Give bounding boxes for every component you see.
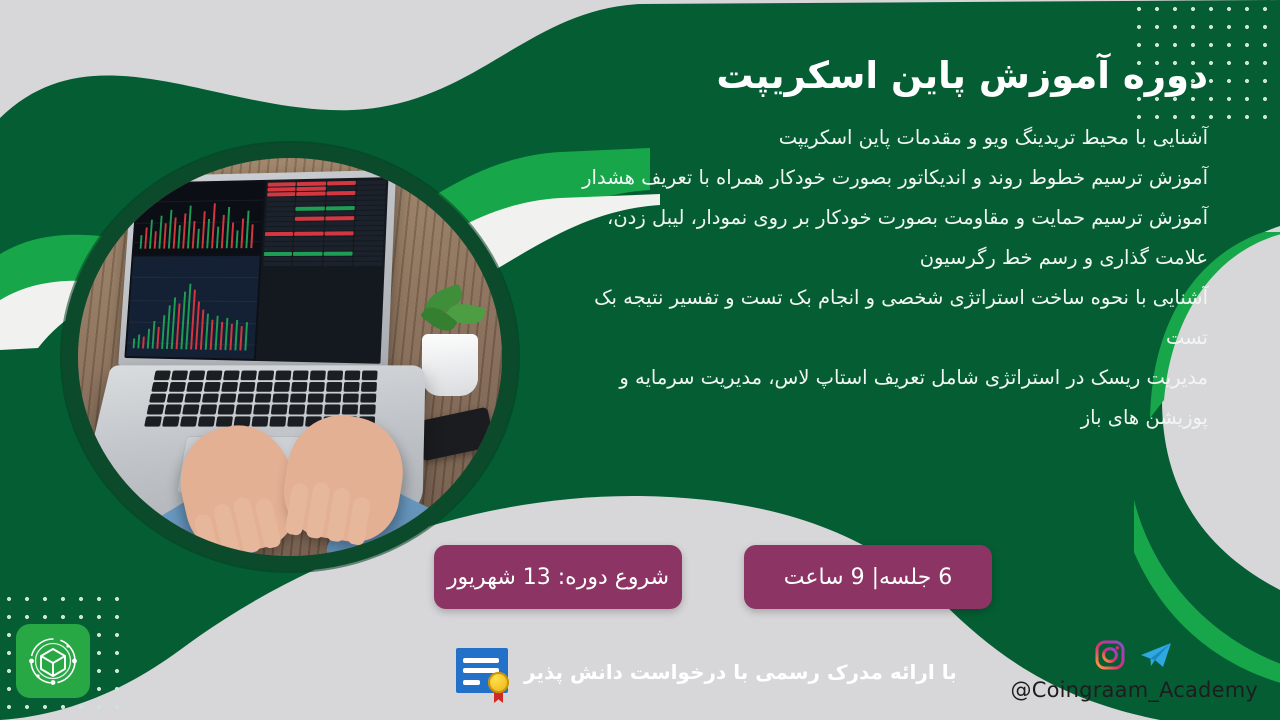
social-block: @Coingraam_Academy — [1011, 640, 1258, 702]
certificate-row: با ارائه مدرک رسمی با درخواست دانش پذیر — [456, 648, 957, 696]
certificate-icon — [456, 648, 512, 696]
page-title: دوره آموزش پاین اسکریپت — [488, 52, 1208, 99]
chart-upper-candles — [134, 182, 265, 255]
bullet-item: آشنایی با نحوه ساخت استراتژی شخصی و انجا… — [508, 278, 1208, 318]
photo-laptop-trading — [78, 158, 502, 556]
bullet-item: آشنایی با محیط تریدینگ ویو و مقدمات پاین… — [508, 118, 1208, 158]
bullet-item: آموزش ترسیم خطوط روند و اندیکاتور بصورت … — [508, 158, 1208, 198]
order-book-panel — [256, 177, 388, 364]
bullet-item: تست — [508, 318, 1208, 358]
telegram-icon[interactable] — [1139, 640, 1173, 674]
chart-lower-candles — [126, 256, 260, 359]
laptop-lid — [118, 170, 396, 373]
chart-panels — [124, 180, 266, 361]
laptop-screen — [124, 177, 388, 364]
social-handle: @Coingraam_Academy — [1011, 678, 1258, 702]
bullet-item: آموزش ترسیم حمایت و مقاومت بصورت خودکار … — [508, 198, 1208, 238]
plant-pot — [422, 334, 478, 396]
bullet-item: علامت گذاری و رسم خط رگرسیون — [508, 238, 1208, 278]
bullet-item: مدیریت ریسک در استراتژی شامل تعریف استاپ… — [508, 358, 1208, 398]
badge-sessions-hours: 6 جلسه| 9 ساعت — [744, 545, 992, 609]
coingraam-cube-logo-icon — [16, 624, 90, 698]
course-bullet-list: آشنایی با محیط تریدینگ ویو و مقدمات پاین… — [508, 118, 1208, 438]
poster-canvas: دوره آموزش پاین اسکریپت آشنایی با محیط ت… — [0, 0, 1280, 720]
bullet-item: پوزیشن های باز — [508, 398, 1208, 438]
certificate-label: با ارائه مدرک رسمی با درخواست دانش پذیر — [524, 660, 957, 684]
instagram-icon[interactable] — [1095, 640, 1125, 674]
badge-start-date: شروع دوره: 13 شهریور — [434, 545, 682, 609]
